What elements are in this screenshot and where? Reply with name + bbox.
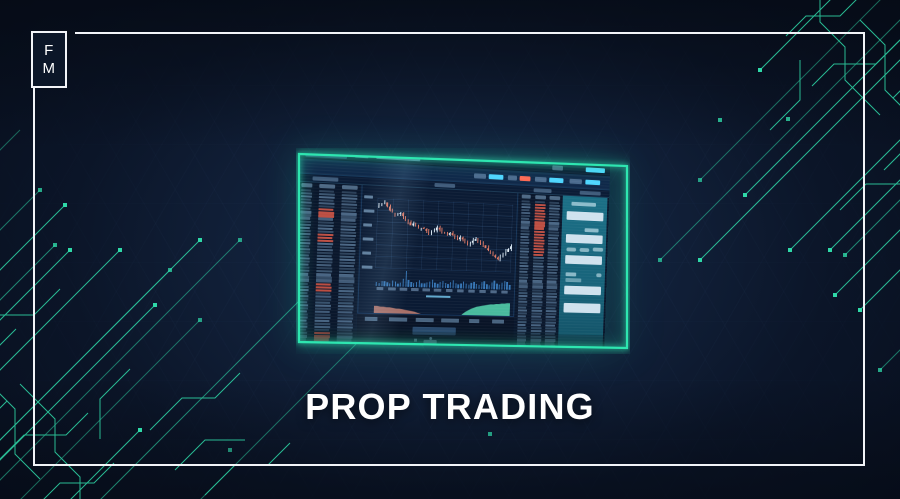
- order-entry-toggle[interactable]: [596, 273, 601, 277]
- positions-col-status: [492, 320, 504, 324]
- order-book-right[interactable]: [514, 193, 562, 351]
- terminal-menu-item-market-depth[interactable]: [376, 155, 420, 162]
- logo-letter-f: F: [44, 43, 54, 58]
- positions-col-last-price: [389, 317, 407, 321]
- section-header-orders: [534, 188, 552, 193]
- section-header-entry: [580, 191, 601, 196]
- positions-col-symbol: [365, 317, 378, 321]
- order-entry-sell-button[interactable]: [580, 248, 590, 252]
- order-entry-close-button[interactable]: [593, 248, 604, 252]
- order-entry-limit-field[interactable]: [565, 255, 602, 265]
- ticker-value-3: [549, 178, 563, 184]
- terminal-screen: [292, 146, 610, 360]
- order-entry-submit-field[interactable]: [563, 303, 600, 313]
- order-entry-stop-sub: [565, 278, 581, 282]
- ticker-label-3: [535, 177, 547, 182]
- trading-terminal-ui: [292, 146, 610, 360]
- positions-col-order-type: [441, 318, 459, 322]
- order-entry-symbol-field[interactable]: [567, 211, 604, 221]
- section-header-chart: [434, 183, 455, 188]
- fm-logo: F M: [31, 31, 67, 88]
- section-header-depth: [313, 176, 339, 181]
- frame-border-top: [75, 32, 865, 34]
- frame-border-bottom: [33, 464, 865, 466]
- order-entry-qty-field[interactable]: [566, 234, 603, 244]
- positions-col-side: [469, 319, 479, 323]
- ticker-label-4: [569, 179, 581, 184]
- ticker-value-2: [520, 176, 531, 181]
- order-entry-stop-field[interactable]: [564, 286, 601, 296]
- chart-y-axis: [362, 195, 377, 272]
- order-book-right-col-3-header: [549, 196, 560, 200]
- order-entry-qty-label: [585, 228, 599, 232]
- logo-letter-m: M: [43, 61, 56, 76]
- candlestick-series: [376, 198, 512, 270]
- order-entry-panel[interactable]: [558, 196, 608, 353]
- top-vignette: [0, 0, 900, 150]
- order-entry-stop-label: [566, 272, 577, 276]
- terminal-search-input[interactable]: [305, 150, 347, 160]
- order-book-left[interactable]: [293, 182, 361, 349]
- trading-terminal-image: [296, 148, 630, 354]
- ticker-label-1: [474, 173, 486, 179]
- order-book-left-col-1-header: [301, 183, 312, 188]
- terminal-screen-clip: [296, 148, 630, 354]
- ticker-value-1: [489, 174, 504, 180]
- order-book-left-col-2-header: [319, 184, 335, 189]
- ticker-label-2: [508, 175, 517, 180]
- slide-canvas: F M: [0, 0, 900, 499]
- order-entry-buy-button[interactable]: [566, 247, 576, 251]
- order-book-right-col-2-header: [535, 195, 546, 199]
- terminal-menu-item-ticker[interactable]: [355, 153, 369, 158]
- order-entry-title: [571, 202, 596, 207]
- ticker-value-4: [585, 180, 600, 186]
- order-book-right-col-1-header: [522, 194, 531, 198]
- order-book-left-col-3-header: [342, 185, 358, 190]
- page-title: PROP TRADING: [0, 386, 900, 428]
- positions-col-order-size: [416, 318, 434, 322]
- terminal-account-label: [552, 165, 563, 170]
